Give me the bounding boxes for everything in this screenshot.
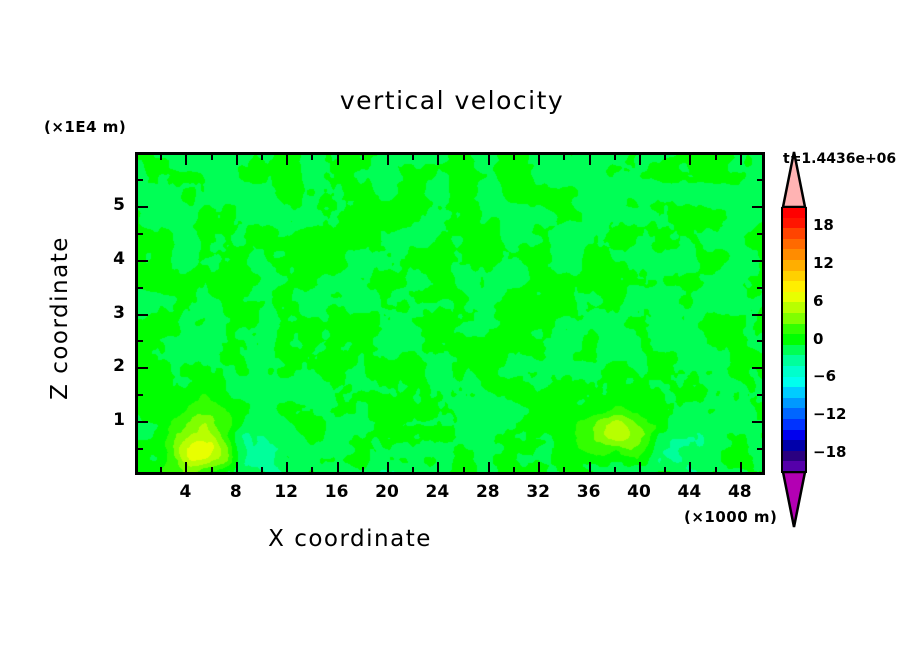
tick-mark xyxy=(614,467,616,473)
colorbar-tick-label: −6 xyxy=(813,367,836,385)
tick-mark xyxy=(563,467,565,473)
figure-canvas: vertical velocity (×1E4 m) (×1000 m) t=1… xyxy=(0,0,904,654)
tick-mark xyxy=(614,154,616,160)
tick-mark xyxy=(488,154,490,165)
tick-mark xyxy=(185,154,187,165)
tick-mark xyxy=(757,448,763,450)
tick-mark xyxy=(437,462,439,473)
tick-mark xyxy=(752,314,763,316)
colorbar-over-triangle xyxy=(781,150,807,208)
tick-mark xyxy=(286,154,288,165)
tick-mark xyxy=(137,367,148,369)
tick-mark xyxy=(137,340,143,342)
y-tick-label: 2 xyxy=(95,356,125,376)
tick-mark xyxy=(752,367,763,369)
x-tick-label: 40 xyxy=(619,482,659,502)
x-tick-label: 24 xyxy=(417,482,457,502)
tick-mark xyxy=(488,462,490,473)
tick-mark xyxy=(412,154,414,160)
tick-mark xyxy=(715,154,717,160)
x-tick-label: 48 xyxy=(720,482,760,502)
colorbar-tick-label: −18 xyxy=(813,443,846,461)
tick-mark xyxy=(538,462,540,473)
tick-mark xyxy=(137,179,143,181)
x-tick-label: 20 xyxy=(367,482,407,502)
tick-mark xyxy=(639,154,641,165)
tick-mark xyxy=(463,467,465,473)
tick-mark xyxy=(337,462,339,473)
tick-mark xyxy=(311,154,313,160)
tick-mark xyxy=(757,233,763,235)
tick-mark xyxy=(160,467,162,473)
y-axis-title: Z coordinate xyxy=(47,198,73,438)
colorbar-over-cap xyxy=(781,150,807,208)
tick-mark xyxy=(513,467,515,473)
tick-mark xyxy=(664,154,666,160)
tick-mark xyxy=(689,154,691,165)
tick-mark xyxy=(437,154,439,165)
tick-mark xyxy=(137,394,143,396)
tick-mark xyxy=(137,448,143,450)
tick-mark xyxy=(137,233,143,235)
tick-mark xyxy=(236,154,238,165)
x-tick-label: 16 xyxy=(317,482,357,502)
tick-mark xyxy=(211,154,213,160)
tick-mark xyxy=(563,154,565,160)
tick-mark xyxy=(757,287,763,289)
colorbar xyxy=(781,207,807,472)
tick-mark xyxy=(715,467,717,473)
tick-mark xyxy=(362,154,364,160)
colorbar-under-triangle xyxy=(781,471,807,529)
colorbar-under-cap xyxy=(781,471,807,529)
tick-mark xyxy=(337,154,339,165)
tick-mark xyxy=(639,462,641,473)
y-tick-label: 5 xyxy=(95,195,125,215)
tick-mark xyxy=(689,462,691,473)
tick-mark xyxy=(261,467,263,473)
x-tick-label: 12 xyxy=(266,482,306,502)
tick-mark xyxy=(387,154,389,165)
tick-mark xyxy=(664,467,666,473)
tick-mark xyxy=(236,462,238,473)
contour-plot-area xyxy=(135,152,765,475)
tick-mark xyxy=(740,154,742,165)
x-tick-label: 36 xyxy=(569,482,609,502)
tick-mark xyxy=(160,154,162,160)
tick-mark xyxy=(286,462,288,473)
x-tick-label: 4 xyxy=(165,482,205,502)
x-tick-label: 28 xyxy=(468,482,508,502)
tick-mark xyxy=(137,287,143,289)
x-axis-title: X coordinate xyxy=(0,526,700,552)
tick-mark xyxy=(589,154,591,165)
tick-mark xyxy=(185,462,187,473)
vertical-velocity-field xyxy=(135,152,765,475)
tick-mark xyxy=(362,467,364,473)
tick-mark xyxy=(311,467,313,473)
tick-mark xyxy=(412,467,414,473)
tick-mark xyxy=(752,206,763,208)
tick-mark xyxy=(137,206,148,208)
tick-mark xyxy=(757,394,763,396)
tick-mark xyxy=(757,179,763,181)
tick-mark xyxy=(752,260,763,262)
tick-mark xyxy=(752,421,763,423)
tick-mark xyxy=(137,260,148,262)
tick-mark xyxy=(463,154,465,160)
colorbar-tick-label: 12 xyxy=(813,254,834,272)
tick-mark xyxy=(137,421,148,423)
colorbar-tick-label: 18 xyxy=(813,216,834,234)
chart-title: vertical velocity xyxy=(0,86,904,115)
x-tick-label: 32 xyxy=(518,482,558,502)
x-tick-label: 8 xyxy=(216,482,256,502)
tick-mark xyxy=(137,314,148,316)
colorbar-tick-label: 6 xyxy=(813,292,823,310)
y-tick-label: 4 xyxy=(95,249,125,269)
tick-mark xyxy=(757,340,763,342)
colorbar-tick-label: −12 xyxy=(813,405,846,423)
tick-mark xyxy=(589,462,591,473)
x-tick-label: 44 xyxy=(669,482,709,502)
y-tick-label: 1 xyxy=(95,410,125,430)
tick-mark xyxy=(740,462,742,473)
colorbar-tick-label: 0 xyxy=(813,330,823,348)
y-tick-label: 3 xyxy=(95,303,125,323)
tick-mark xyxy=(538,154,540,165)
tick-mark xyxy=(387,462,389,473)
z-axis-units-label: (×1E4 m) xyxy=(44,118,126,136)
tick-mark xyxy=(513,154,515,160)
tick-mark xyxy=(211,467,213,473)
x-axis-units-label: (×1000 m) xyxy=(684,508,777,526)
tick-mark xyxy=(261,154,263,160)
